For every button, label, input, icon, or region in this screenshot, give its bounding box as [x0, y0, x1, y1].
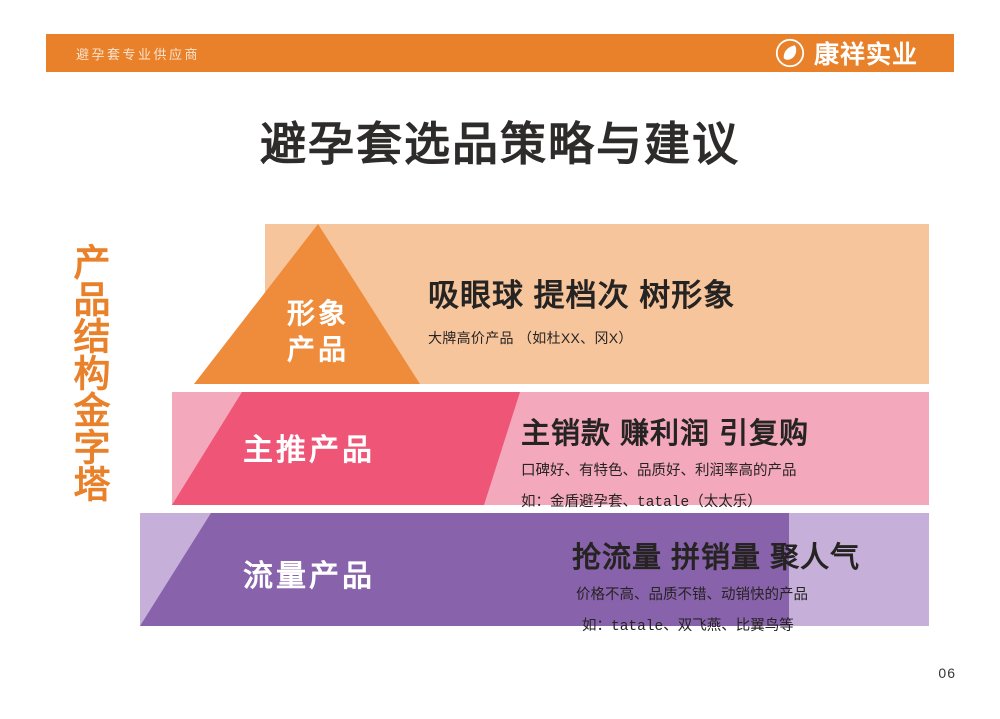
company-name: 康祥实业	[814, 35, 918, 71]
tier-label-main-product: 主推产品	[243, 425, 375, 469]
tier-detail-image-product-1: 大牌高价产品 （如杜XX、冈X）	[428, 328, 735, 348]
tier-headline-traffic-product: 抢流量 拼销量 聚人气	[572, 534, 860, 576]
tier-detail-main-product-1: 口碑好、有特色、品质好、利润率高的产品	[521, 459, 809, 480]
tier-headline-image-product: 吸眼球 提档次 树形象	[428, 270, 735, 315]
page-number: 06	[938, 665, 956, 681]
tier-detail-traffic-product-2: 如：tatale、双飞燕、比翼鸟等	[572, 614, 860, 635]
tier-label-image-product: 形象产品	[276, 296, 360, 368]
slide-canvas: 避孕套专业供应商 康祥实业 避孕套选品策略与建议 产品结构金字塔 形象产品 吸眼…	[0, 0, 1000, 719]
header-tagline: 避孕套专业供应商	[76, 44, 200, 63]
company-logo: 康祥实业	[775, 35, 918, 71]
tier-headline-main-product: 主销款 赚利润 引复购	[521, 410, 809, 452]
side-label: 产品结构金字塔	[62, 222, 108, 522]
header-bar: 避孕套专业供应商 康祥实业	[46, 34, 954, 72]
page-title: 避孕套选品策略与建议	[0, 108, 1000, 174]
leaf-swirl-emblem-icon	[775, 38, 805, 68]
tier-detail-main-product-2: 如：金盾避孕套、tatale（太太乐）	[521, 490, 809, 511]
tier-content-main-product: 主销款 赚利润 引复购 口碑好、有特色、品质好、利润率高的产品 如：金盾避孕套、…	[521, 410, 809, 511]
tier-detail-traffic-product-1: 价格不高、品质不错、动销快的产品	[572, 583, 860, 604]
tier-content-traffic-product: 抢流量 拼销量 聚人气 价格不高、品质不错、动销快的产品 如：tatale、双飞…	[572, 534, 860, 635]
tier-label-traffic-product: 流量产品	[243, 551, 375, 595]
tier-content-image-product: 吸眼球 提档次 树形象 大牌高价产品 （如杜XX、冈X）	[428, 270, 735, 348]
